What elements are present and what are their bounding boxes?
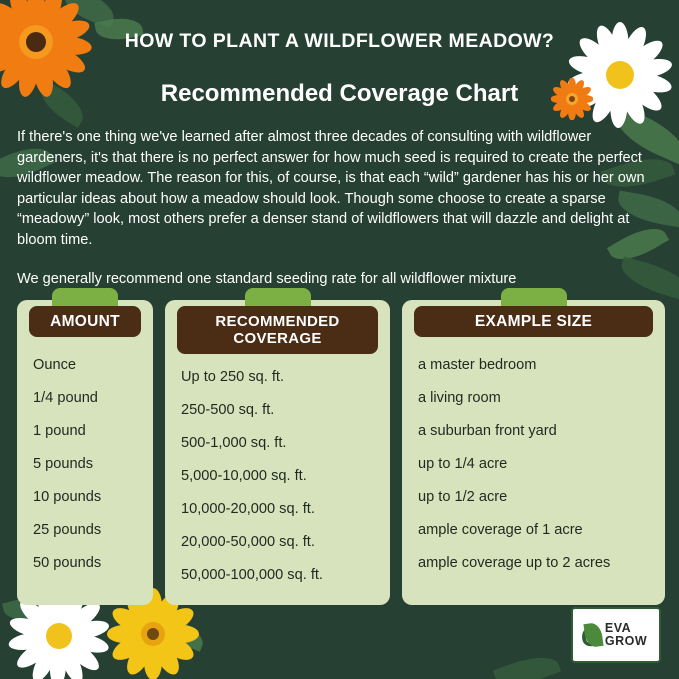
table-cell: 50 pounds (17, 546, 153, 579)
table-cell: 1/4 pound (17, 381, 153, 414)
table-cell: up to 1/4 acre (402, 447, 665, 480)
table-cell: Up to 250 sq. ft. (165, 360, 390, 393)
table-cell: 25 pounds (17, 513, 153, 546)
page-title: HOW TO PLANT A WILDFLOWER MEADOW? (0, 30, 679, 53)
table-cell: 250-500 sq. ft. (165, 393, 390, 426)
leaf-decoration-icon (493, 649, 561, 679)
intro-paragraph-1: If there's one thing we've learned after… (17, 127, 665, 250)
infographic-canvas: HOW TO PLANT A WILDFLOWER MEADOW? Recomm… (0, 0, 679, 679)
logo-wordmark: EVA GROW (605, 622, 647, 648)
page-subtitle: Recommended Coverage Chart (0, 80, 679, 108)
intro-paragraph-2: We generally recommend one standard seed… (17, 269, 665, 290)
logo-line-2: GROW (605, 635, 647, 648)
table-cell: a master bedroom (402, 348, 665, 381)
table-cell: ample coverage of 1 acre (402, 513, 665, 546)
column-header-amount: AMOUNT (29, 306, 141, 337)
table-cell: 5 pounds (17, 447, 153, 480)
table-cell: ample coverage up to 2 acres (402, 546, 665, 579)
table-cell: 50,000-100,000 sq. ft. (165, 558, 390, 591)
table-cell: 10,000-20,000 sq. ft. (165, 492, 390, 525)
table-cell: 5,000-10,000 sq. ft. (165, 459, 390, 492)
column-header-example: EXAMPLE SIZE (414, 306, 653, 337)
table-cell: up to 1/2 acre (402, 480, 665, 513)
column-amount: AMOUNT Ounce 1/4 pound 1 pound 5 pounds … (17, 300, 153, 605)
intro-copy: If there's one thing we've learned after… (17, 127, 665, 290)
table-cell: 500-1,000 sq. ft. (165, 426, 390, 459)
brand-logo: C EVA GROW (571, 607, 661, 663)
table-cell: a living room (402, 381, 665, 414)
table-cell: 20,000-50,000 sq. ft. (165, 525, 390, 558)
column-example-size: EXAMPLE SIZE a master bedroom a living r… (402, 300, 665, 605)
column-recommended-coverage: RECOMMENDED COVERAGE Up to 250 sq. ft. 2… (165, 300, 390, 605)
table-cell: Ounce (17, 348, 153, 381)
coverage-table: AMOUNT Ounce 1/4 pound 1 pound 5 pounds … (17, 300, 665, 605)
column-header-coverage: RECOMMENDED COVERAGE (177, 306, 378, 354)
leaf-decoration-icon (59, 0, 118, 28)
table-cell: 1 pound (17, 414, 153, 447)
table-cell: 10 pounds (17, 480, 153, 513)
table-cell: a suburban front yard (402, 414, 665, 447)
leaf-decoration-icon (148, 610, 208, 651)
